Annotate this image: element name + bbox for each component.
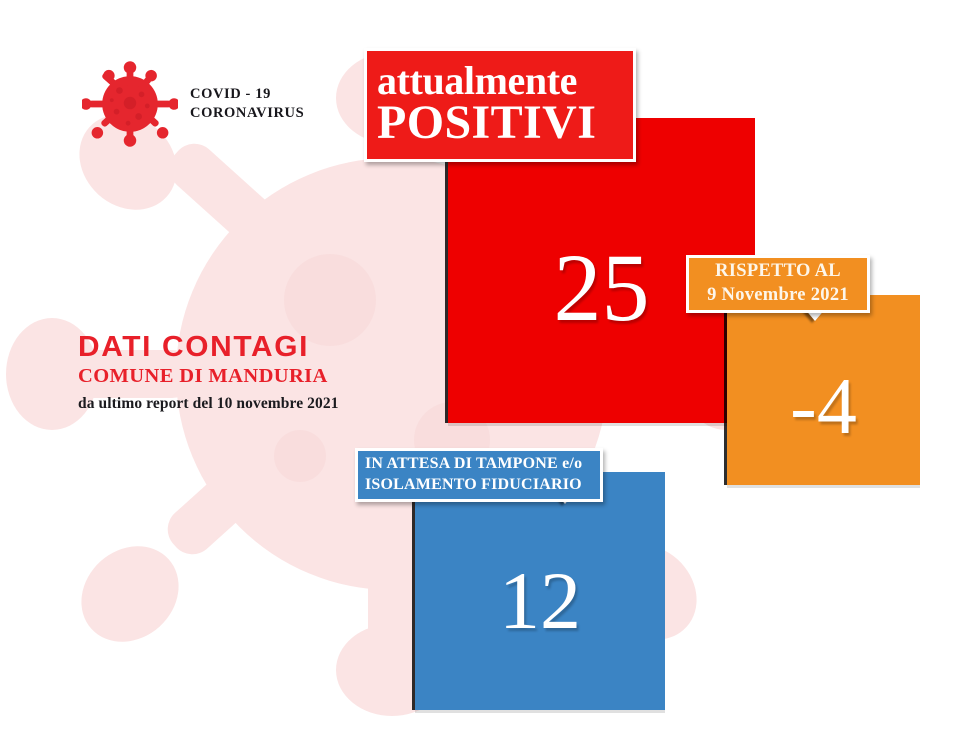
brand-logo: COVID - 19 CORONAVIRUS xyxy=(82,48,304,160)
metric-label-positivi-line2: POSITIVI xyxy=(377,99,623,147)
metric-label-variazione-line1: RISPETTO AL xyxy=(695,260,861,284)
metric-label-attesa: IN ATTESA DI TAMPONE e/o ISOLAMENTO FIDU… xyxy=(355,448,603,502)
metric-label-attesa-line2: ISOLAMENTO FIDUCIARIO xyxy=(365,475,593,496)
metric-label-variazione-line2: 9 Novembre 2021 xyxy=(695,284,861,308)
infographic-canvas: COVID - 19 CORONAVIRUS DATI CONTAGI COMU… xyxy=(0,0,960,751)
brand-line-1: COVID - 19 xyxy=(190,85,304,104)
metric-label-positivi: attualmente POSITIVI xyxy=(364,48,636,162)
metric-card-attesa: 12 xyxy=(415,472,665,710)
metric-label-attesa-line1: IN ATTESA DI TAMPONE e/o xyxy=(365,454,593,475)
coronavirus-icon xyxy=(82,48,178,160)
metric-label-variazione: RISPETTO AL 9 Novembre 2021 xyxy=(686,255,870,313)
metric-card-variazione: -4 xyxy=(727,295,920,485)
page-subtitle: COMUNE DI MANDURIA xyxy=(78,364,339,388)
metric-value-variazione: -4 xyxy=(727,367,920,447)
metric-label-positivi-line1: attualmente xyxy=(377,61,623,102)
headline-block: DATI CONTAGI COMUNE DI MANDURIA da ultim… xyxy=(78,332,339,413)
brand-line-2: CORONAVIRUS xyxy=(190,104,304,123)
report-date-note: da ultimo report del 10 novembre 2021 xyxy=(78,395,339,413)
brand-logo-text: COVID - 19 CORONAVIRUS xyxy=(190,85,304,123)
page-title: DATI CONTAGI xyxy=(78,332,346,363)
metric-value-attesa: 12 xyxy=(415,560,665,642)
